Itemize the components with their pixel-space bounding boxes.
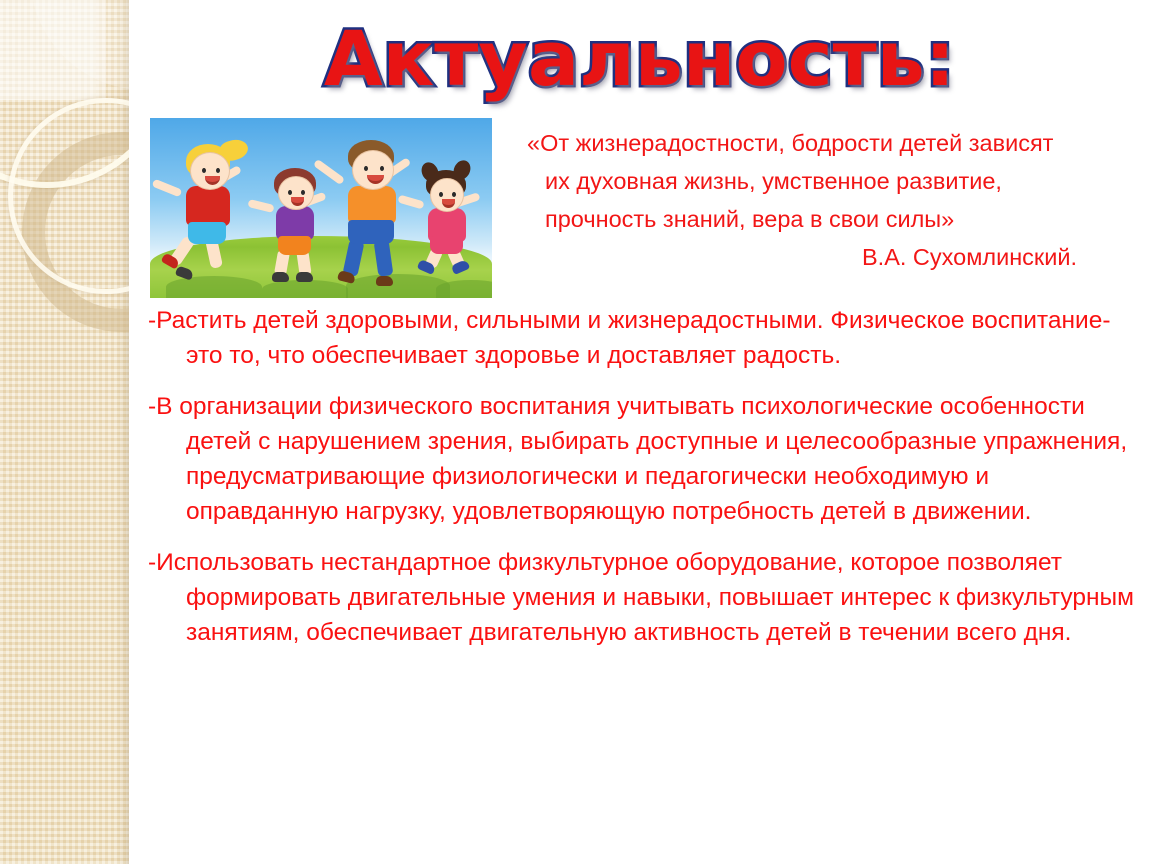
child-torso <box>348 186 396 224</box>
child-arm <box>152 179 183 198</box>
bullet-item: -Растить детей здоровыми, сильными и жиз… <box>148 303 1148 373</box>
child-shorts <box>348 220 394 244</box>
child-eye <box>216 168 220 173</box>
presentation-slide: Актуальность: <box>0 0 1150 864</box>
child-shoe <box>272 272 289 282</box>
child-arm <box>247 199 274 213</box>
child-torso <box>186 186 230 226</box>
quote-line-1: «От жизнерадостности, бодрости детей зав… <box>515 124 1085 162</box>
grass-hill <box>166 276 262 298</box>
child-arm <box>313 159 345 185</box>
child-shorts <box>188 222 226 244</box>
child-eye <box>364 166 368 171</box>
child-eye <box>202 168 206 173</box>
child-eye <box>301 190 305 195</box>
bullet-item: -В организации физического воспитания уч… <box>148 389 1146 529</box>
grass-hill <box>262 280 348 298</box>
title-container: Актуальность: <box>129 16 1150 102</box>
child-shoe <box>376 276 393 286</box>
grass-hill <box>436 280 492 298</box>
child-shorts <box>430 236 463 254</box>
bullet-item: -Использовать нестандартное физкультурно… <box>148 545 1150 650</box>
child-head <box>352 150 394 190</box>
quote-author: В.А. Сухомлинский. <box>515 238 1085 276</box>
child-eye <box>439 192 443 197</box>
quote-line-2: их духовная жизнь, умственное развитие, <box>515 162 1085 200</box>
grass-hill <box>346 274 450 298</box>
child-shoe <box>296 272 313 282</box>
child-shorts <box>278 236 311 255</box>
quote-line-3: прочность знаний, вера в свои силы» <box>515 200 1085 238</box>
child-eye <box>380 166 384 171</box>
decorative-side-panel <box>0 0 129 864</box>
child-eye <box>452 192 456 197</box>
child-torso <box>276 206 314 240</box>
page-title: Актуальность: <box>324 16 955 102</box>
child-arm <box>397 195 424 210</box>
child-eye <box>288 190 292 195</box>
body-bullet-list: -Растить детей здоровыми, сильными и жиз… <box>148 303 1148 650</box>
jumping-children-clipart <box>150 118 492 298</box>
quote-block: «От жизнерадостности, бодрости детей зав… <box>515 124 1085 276</box>
